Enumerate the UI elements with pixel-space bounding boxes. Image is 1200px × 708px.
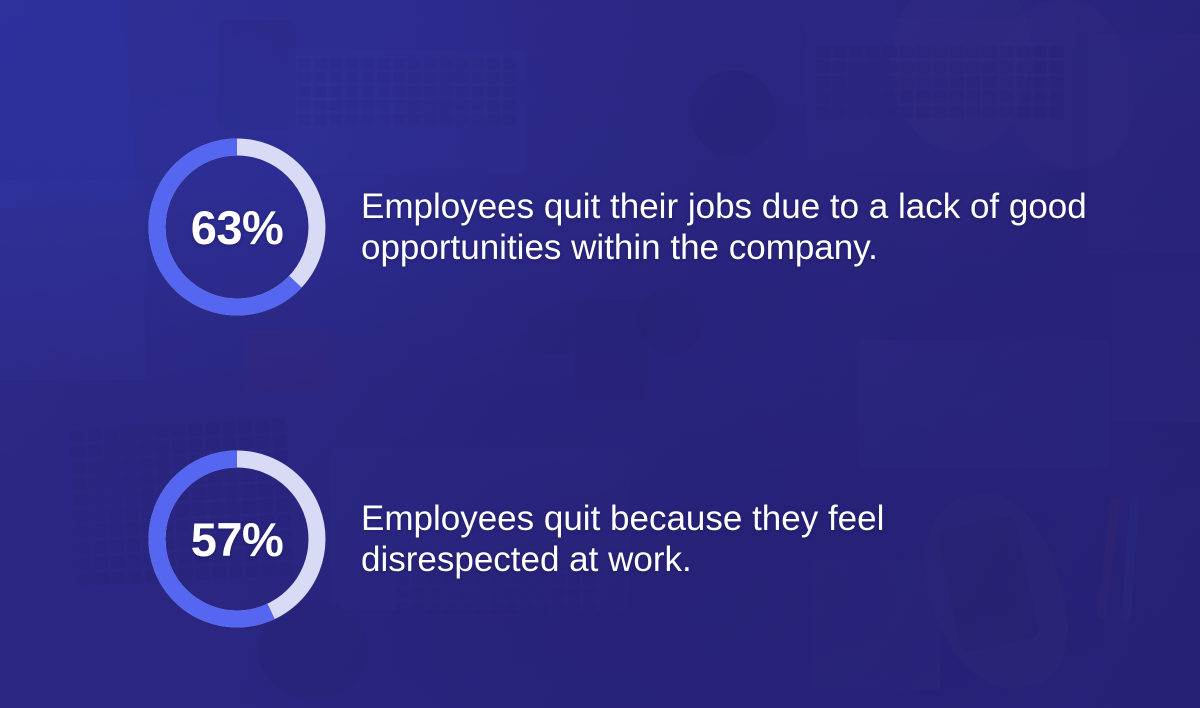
stat-row: 57% Employees quit because they feel dis… [141, 443, 1001, 635]
stat-row: 63% Employees quit their jobs due to a l… [141, 131, 1106, 323]
stat-caption: Employees quit because they feel disresp… [361, 498, 1001, 581]
donut-percent-label: 63% [141, 131, 333, 323]
infographic-canvas: 63% Employees quit their jobs due to a l… [0, 0, 1200, 708]
donut-percent-label: 57% [141, 443, 333, 635]
stat-list: 63% Employees quit their jobs due to a l… [0, 0, 1200, 708]
donut-chart-57: 57% [141, 443, 333, 635]
stat-caption: Employees quit their jobs due to a lack … [361, 186, 1106, 269]
donut-chart-63: 63% [141, 131, 333, 323]
